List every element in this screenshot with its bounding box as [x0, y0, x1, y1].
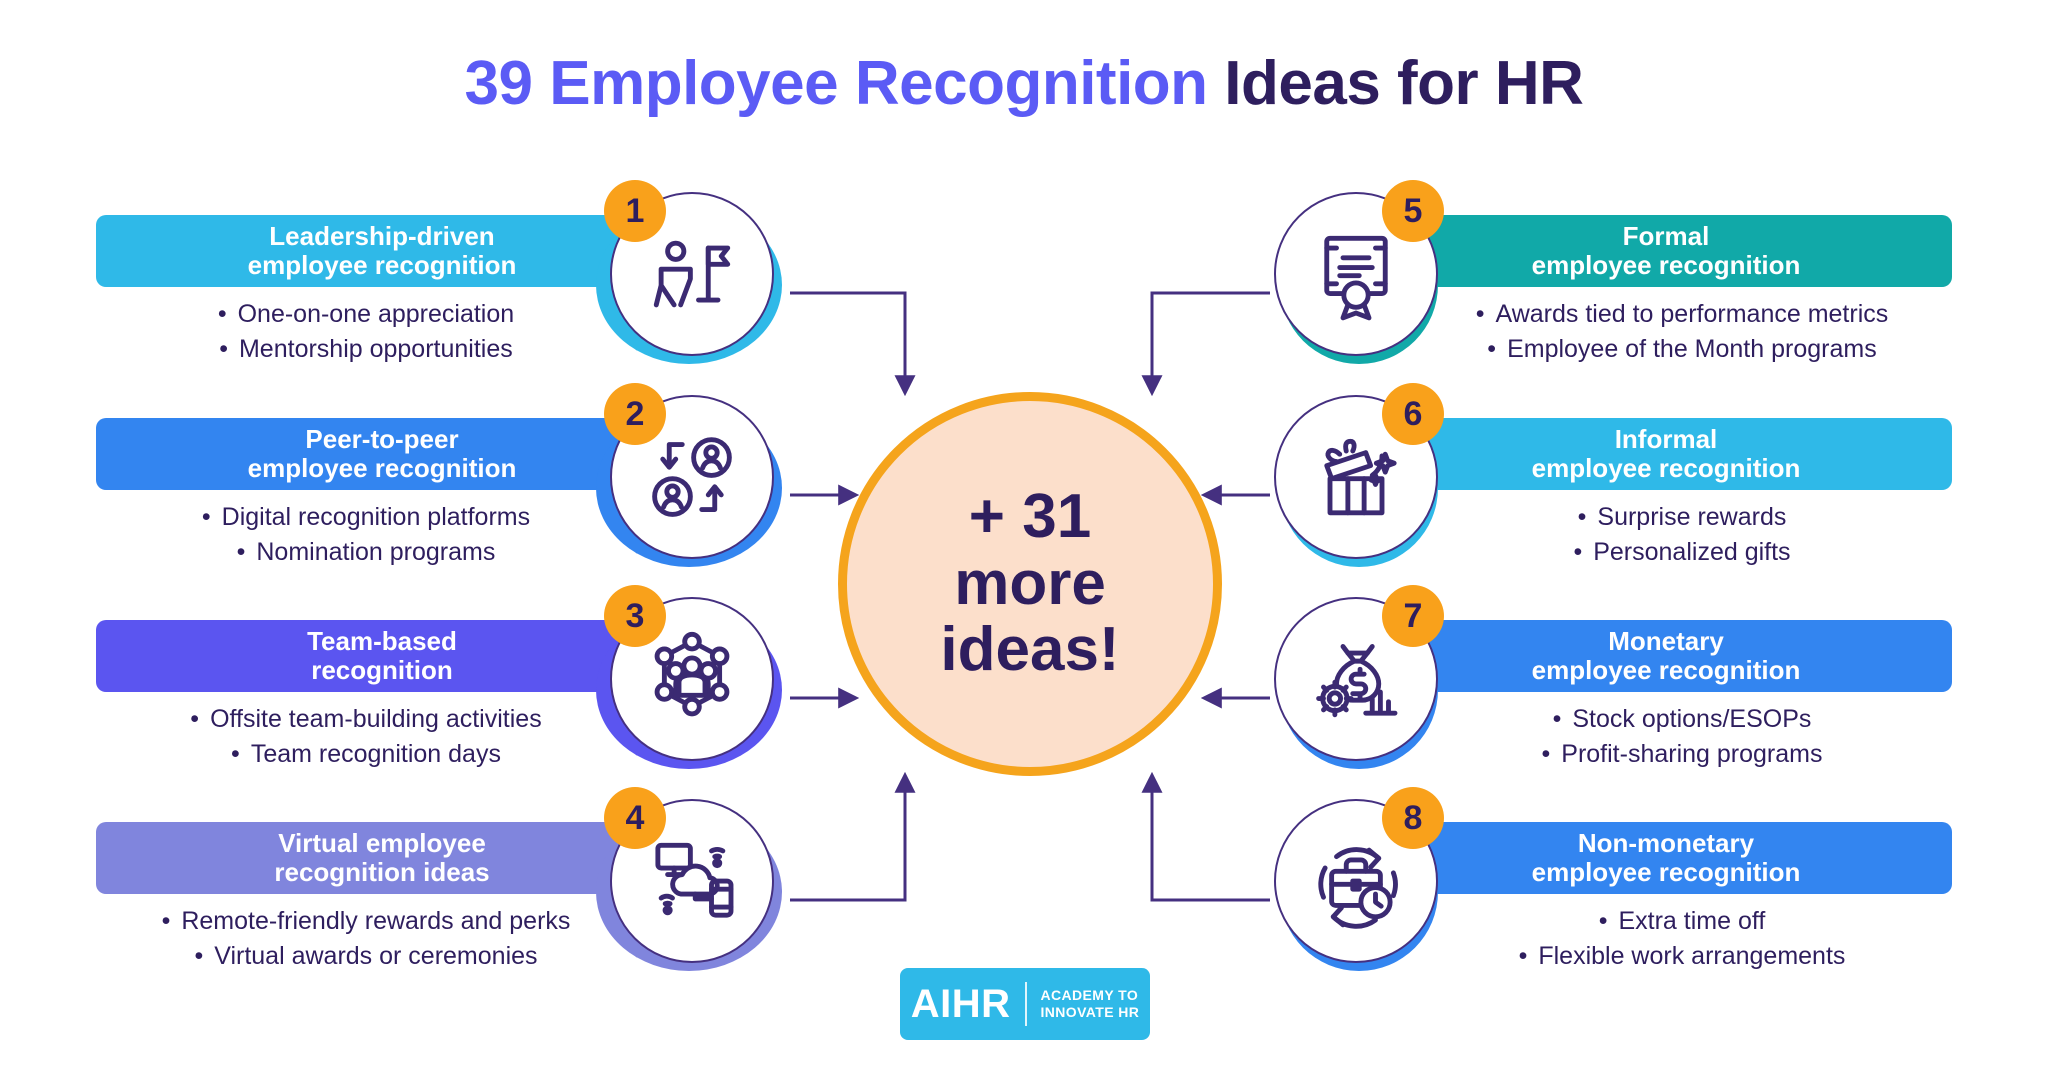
card-8-title-line1: Non-monetary — [1578, 828, 1754, 858]
list-item: Nomination programs — [96, 535, 636, 570]
card-7-bullets: Stock options/ESOPs Profit-sharing progr… — [1412, 702, 1952, 771]
list-item: Stock options/ESOPs — [1412, 702, 1952, 737]
gift-sparkle-icon — [1304, 425, 1408, 529]
card-4-number-badge: 4 — [604, 787, 666, 849]
card-3-title-line2: recognition — [311, 655, 453, 685]
card-2-bullets: Digital recognition platforms Nomination… — [96, 500, 636, 569]
card-7-number-badge: 7 — [1382, 585, 1444, 647]
card-2-title: Peer-to-peeremployee recognition — [96, 418, 668, 490]
logo-tagline: ACADEMY TO INNOVATE HR — [1041, 987, 1140, 1022]
card-5-number-badge: 5 — [1382, 180, 1444, 242]
card-4-title: Virtual employeerecognition ideas — [96, 822, 668, 894]
card-7-title: Monetaryemployee recognition — [1380, 620, 1952, 692]
card-3-bullets: Offsite team-building activities Team re… — [96, 702, 636, 771]
leader-with-flag-icon — [640, 222, 744, 326]
card-2-title-line1: Peer-to-peer — [305, 424, 458, 454]
card-3-icon-bubble[interactable]: 3 — [610, 597, 782, 769]
card-4-title-line1: Virtual employee — [278, 828, 486, 858]
card-3-title: Team-basedrecognition — [96, 620, 668, 692]
list-item: One-on-one appreciation — [96, 297, 636, 332]
card-1-number-badge: 1 — [604, 180, 666, 242]
card-4-bullets: Remote-friendly rewards and perks Virtua… — [96, 904, 636, 973]
list-item: Team recognition days — [96, 737, 636, 772]
list-item: Personalized gifts — [1412, 535, 1952, 570]
card-7-title-line1: Monetary — [1608, 626, 1724, 656]
center-more-ideas-circle[interactable]: + 31 more ideas! — [838, 392, 1222, 776]
logo-tagline-line2: INNOVATE HR — [1041, 1004, 1140, 1020]
list-item: Employee of the Month programs — [1412, 332, 1952, 367]
aihr-logo[interactable]: AIHR ACADEMY TO INNOVATE HR — [900, 968, 1150, 1040]
certificate-icon — [1304, 222, 1408, 326]
card-2-number-badge: 2 — [604, 383, 666, 445]
logo-wordmark: AIHR — [911, 982, 1011, 1027]
list-item: Surprise rewards — [1412, 500, 1952, 535]
list-item: Offsite team-building activities — [96, 702, 636, 737]
card-7-title-line2: employee recognition — [1532, 655, 1801, 685]
card-8-title-line2: employee recognition — [1532, 857, 1801, 887]
center-line-3: ideas! — [940, 615, 1119, 684]
infographic-canvas: 39 Employee Recognition Ideas for HR Lea… — [0, 0, 2048, 1071]
card-4-icon-bubble[interactable]: 4 — [610, 799, 782, 971]
list-item: Flexible work arrangements — [1412, 939, 1952, 974]
list-item: Extra time off — [1412, 904, 1952, 939]
cloud-devices-icon — [640, 829, 744, 933]
card-1-title: Leadership-drivenemployee recognition — [96, 215, 668, 287]
card-5-title-line2: employee recognition — [1532, 250, 1801, 280]
money-bag-chart-icon — [1304, 627, 1408, 731]
card-2-title-line2: employee recognition — [248, 453, 517, 483]
logo-divider — [1025, 982, 1027, 1026]
card-6-title: Informalemployee recognition — [1380, 418, 1952, 490]
list-item: Remote-friendly rewards and perks — [96, 904, 636, 939]
card-6-number-badge: 6 — [1382, 383, 1444, 445]
card-8-bullets: Extra time off Flexible work arrangement… — [1412, 904, 1952, 973]
card-3-title-line1: Team-based — [307, 626, 457, 656]
card-8-number-badge: 8 — [1382, 787, 1444, 849]
team-network-icon — [640, 627, 744, 731]
briefcase-clock-icon — [1304, 829, 1408, 933]
card-7-icon-bubble[interactable]: 7 — [1266, 597, 1438, 769]
center-line-1: + 31 — [969, 482, 1091, 551]
card-3-number-badge: 3 — [604, 585, 666, 647]
card-6-title-line2: employee recognition — [1532, 453, 1801, 483]
card-1-bullets: One-on-one appreciation Mentorship oppor… — [96, 297, 636, 366]
card-4-title-line2: recognition ideas — [274, 857, 489, 887]
card-6-title-line1: Informal — [1615, 424, 1718, 454]
list-item: Mentorship opportunities — [96, 332, 636, 367]
list-item: Awards tied to performance metrics — [1412, 297, 1952, 332]
list-item: Profit-sharing programs — [1412, 737, 1952, 772]
card-8-title: Non-monetaryemployee recognition — [1380, 822, 1952, 894]
peer-exchange-icon — [640, 425, 744, 529]
card-5-title-line1: Formal — [1623, 221, 1710, 251]
center-text: + 31 more ideas! — [940, 484, 1119, 685]
card-5-icon-bubble[interactable]: 5 — [1266, 192, 1438, 364]
logo-tagline-line1: ACADEMY TO — [1041, 987, 1139, 1003]
center-line-2: more — [954, 549, 1106, 618]
card-8-icon-bubble[interactable]: 8 — [1266, 799, 1438, 971]
card-5-title: Formalemployee recognition — [1380, 215, 1952, 287]
list-item: Virtual awards or ceremonies — [96, 939, 636, 974]
card-5-bullets: Awards tied to performance metrics Emplo… — [1412, 297, 1952, 366]
card-1-title-line1: Leadership-driven — [269, 221, 494, 251]
card-1-icon-bubble[interactable]: 1 — [610, 192, 782, 364]
card-6-bullets: Surprise rewards Personalized gifts — [1412, 500, 1952, 569]
card-6-icon-bubble[interactable]: 6 — [1266, 395, 1438, 567]
list-item: Digital recognition platforms — [96, 500, 636, 535]
card-2-icon-bubble[interactable]: 2 — [610, 395, 782, 567]
card-1-title-line2: employee recognition — [248, 250, 517, 280]
